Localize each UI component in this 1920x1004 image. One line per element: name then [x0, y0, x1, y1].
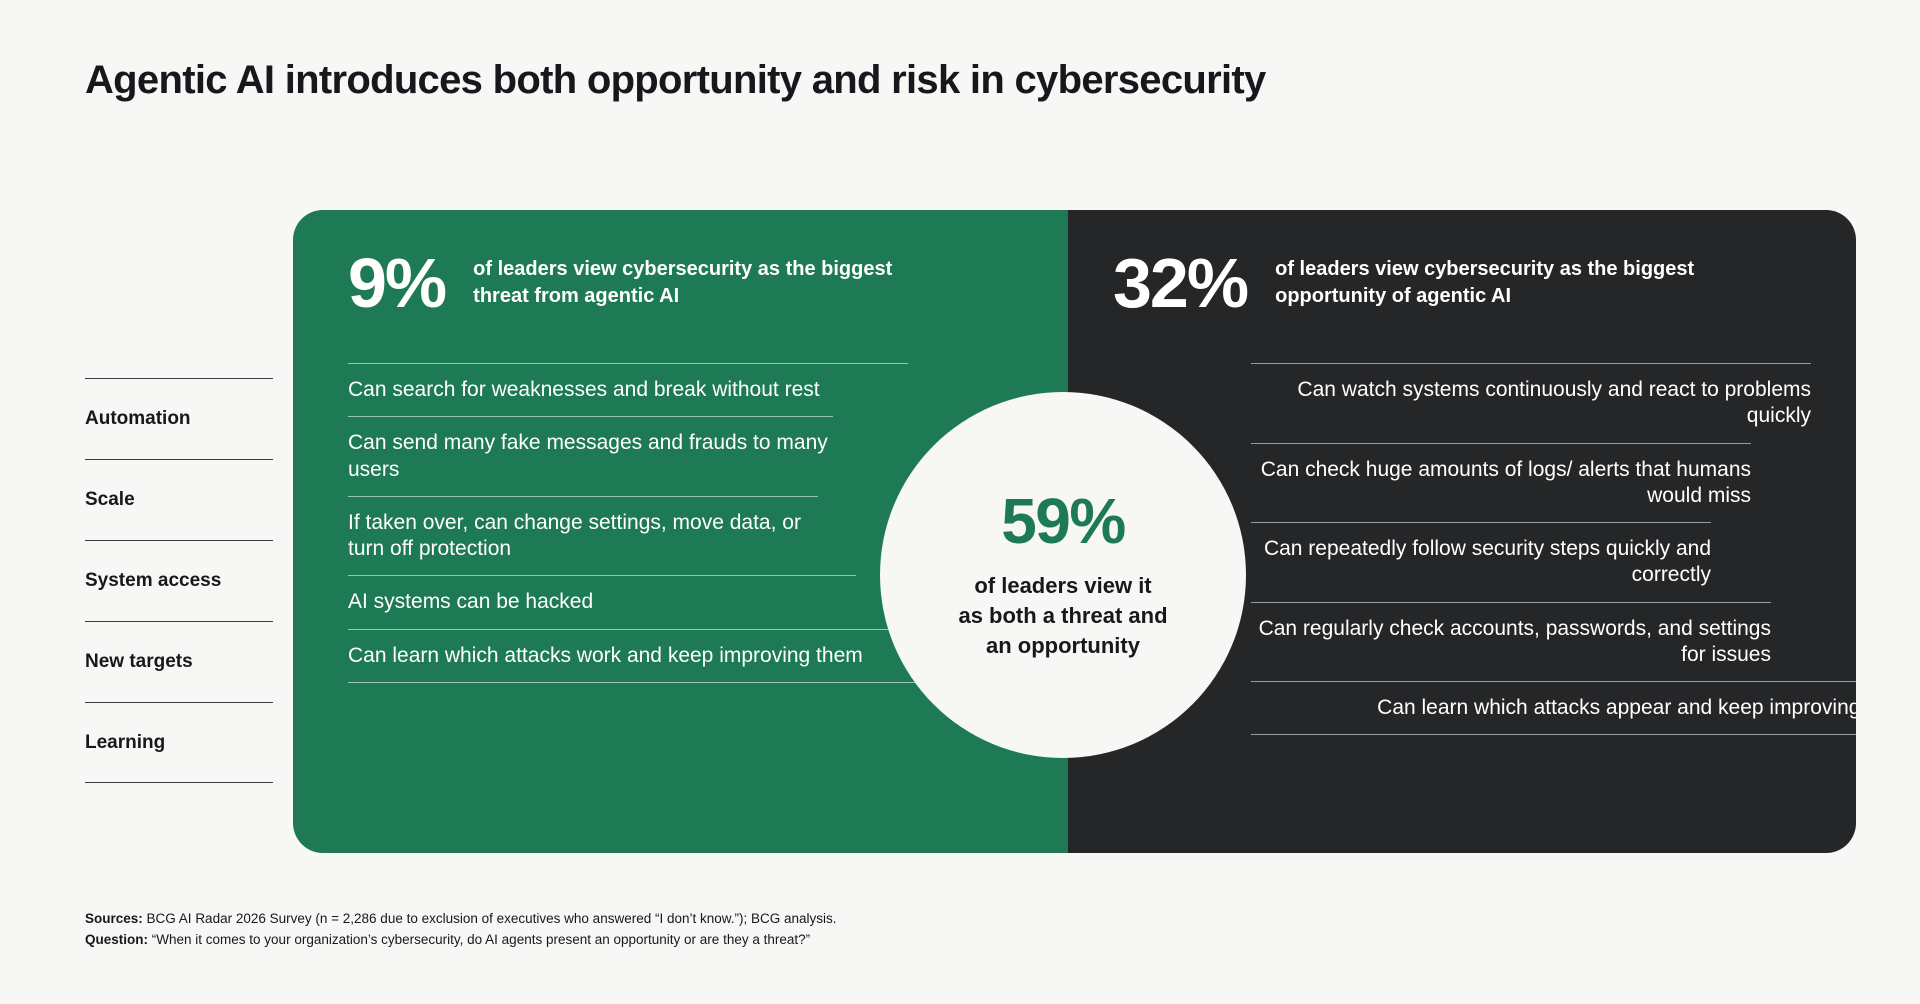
threat-caption: of leaders view cybersecurity as the big…: [473, 256, 903, 310]
opportunity-caption: of leaders view cybersecurity as the big…: [1275, 256, 1705, 310]
opportunity-item: Can repeatedly follow security steps qui…: [1251, 522, 1711, 602]
infographic-page: Agentic AI introduces both opportunity a…: [0, 0, 1920, 1004]
question-label: Question:: [85, 932, 148, 947]
category-row-system-access: System access: [85, 540, 273, 621]
center-caption-line-3: an opportunity: [958, 631, 1167, 661]
threat-item: If taken over, can change settings, move…: [348, 496, 818, 576]
center-caption-line-2: as both a threat and: [958, 601, 1167, 631]
category-row-new-targets: New targets: [85, 621, 273, 702]
category-label: New targets: [85, 651, 193, 673]
threat-item: AI systems can be hacked: [348, 575, 856, 628]
sources-text: BCG AI Radar 2026 Survey (n = 2,286 due …: [147, 911, 837, 926]
category-label: Automation: [85, 408, 191, 430]
center-stat-circle: 59% of leaders view it as both a threat …: [880, 392, 1246, 758]
footnotes: Sources: BCG AI Radar 2026 Survey (n = 2…: [85, 909, 837, 951]
opportunity-item-list: Can watch systems continuously and react…: [1251, 363, 1811, 735]
opportunity-item: Can watch systems continuously and react…: [1251, 363, 1811, 443]
category-row-automation: Automation: [85, 378, 273, 459]
center-caption: of leaders view it as both a threat and …: [958, 571, 1167, 660]
center-percent: 59%: [1001, 489, 1125, 553]
category-label: Learning: [85, 732, 165, 754]
opportunity-panel-header: 32% of leaders view cybersecurity as the…: [1068, 210, 1856, 318]
category-label: System access: [85, 570, 221, 592]
category-label: Scale: [85, 489, 135, 511]
opportunity-item: Can check huge amounts of logs/ alerts t…: [1251, 443, 1751, 523]
opportunity-percent: 32%: [1113, 248, 1247, 318]
category-list: Automation Scale System access New targe…: [85, 378, 273, 783]
category-row-learning: Learning: [85, 702, 273, 783]
sources-line: Sources: BCG AI Radar 2026 Survey (n = 2…: [85, 909, 837, 930]
category-row-scale: Scale: [85, 459, 273, 540]
threat-item-list: Can search for weaknesses and break with…: [348, 363, 908, 683]
threat-percent: 9%: [348, 248, 445, 318]
opportunity-item: Can regularly check accounts, passwords,…: [1251, 602, 1771, 682]
question-line: Question: “When it comes to your organiz…: [85, 930, 837, 951]
threat-panel-header: 9% of leaders view cybersecurity as the …: [293, 210, 1068, 318]
sources-label: Sources:: [85, 911, 143, 926]
opportunity-item: Can learn which attacks appear and keep …: [1251, 681, 1856, 735]
page-title: Agentic AI introduces both opportunity a…: [85, 58, 1266, 103]
center-caption-line-1: of leaders view it: [958, 571, 1167, 601]
threat-item: Can send many fake messages and frauds t…: [348, 416, 833, 496]
question-text: “When it comes to your organization’s cy…: [152, 932, 810, 947]
threat-item: Can search for weaknesses and break with…: [348, 363, 908, 416]
